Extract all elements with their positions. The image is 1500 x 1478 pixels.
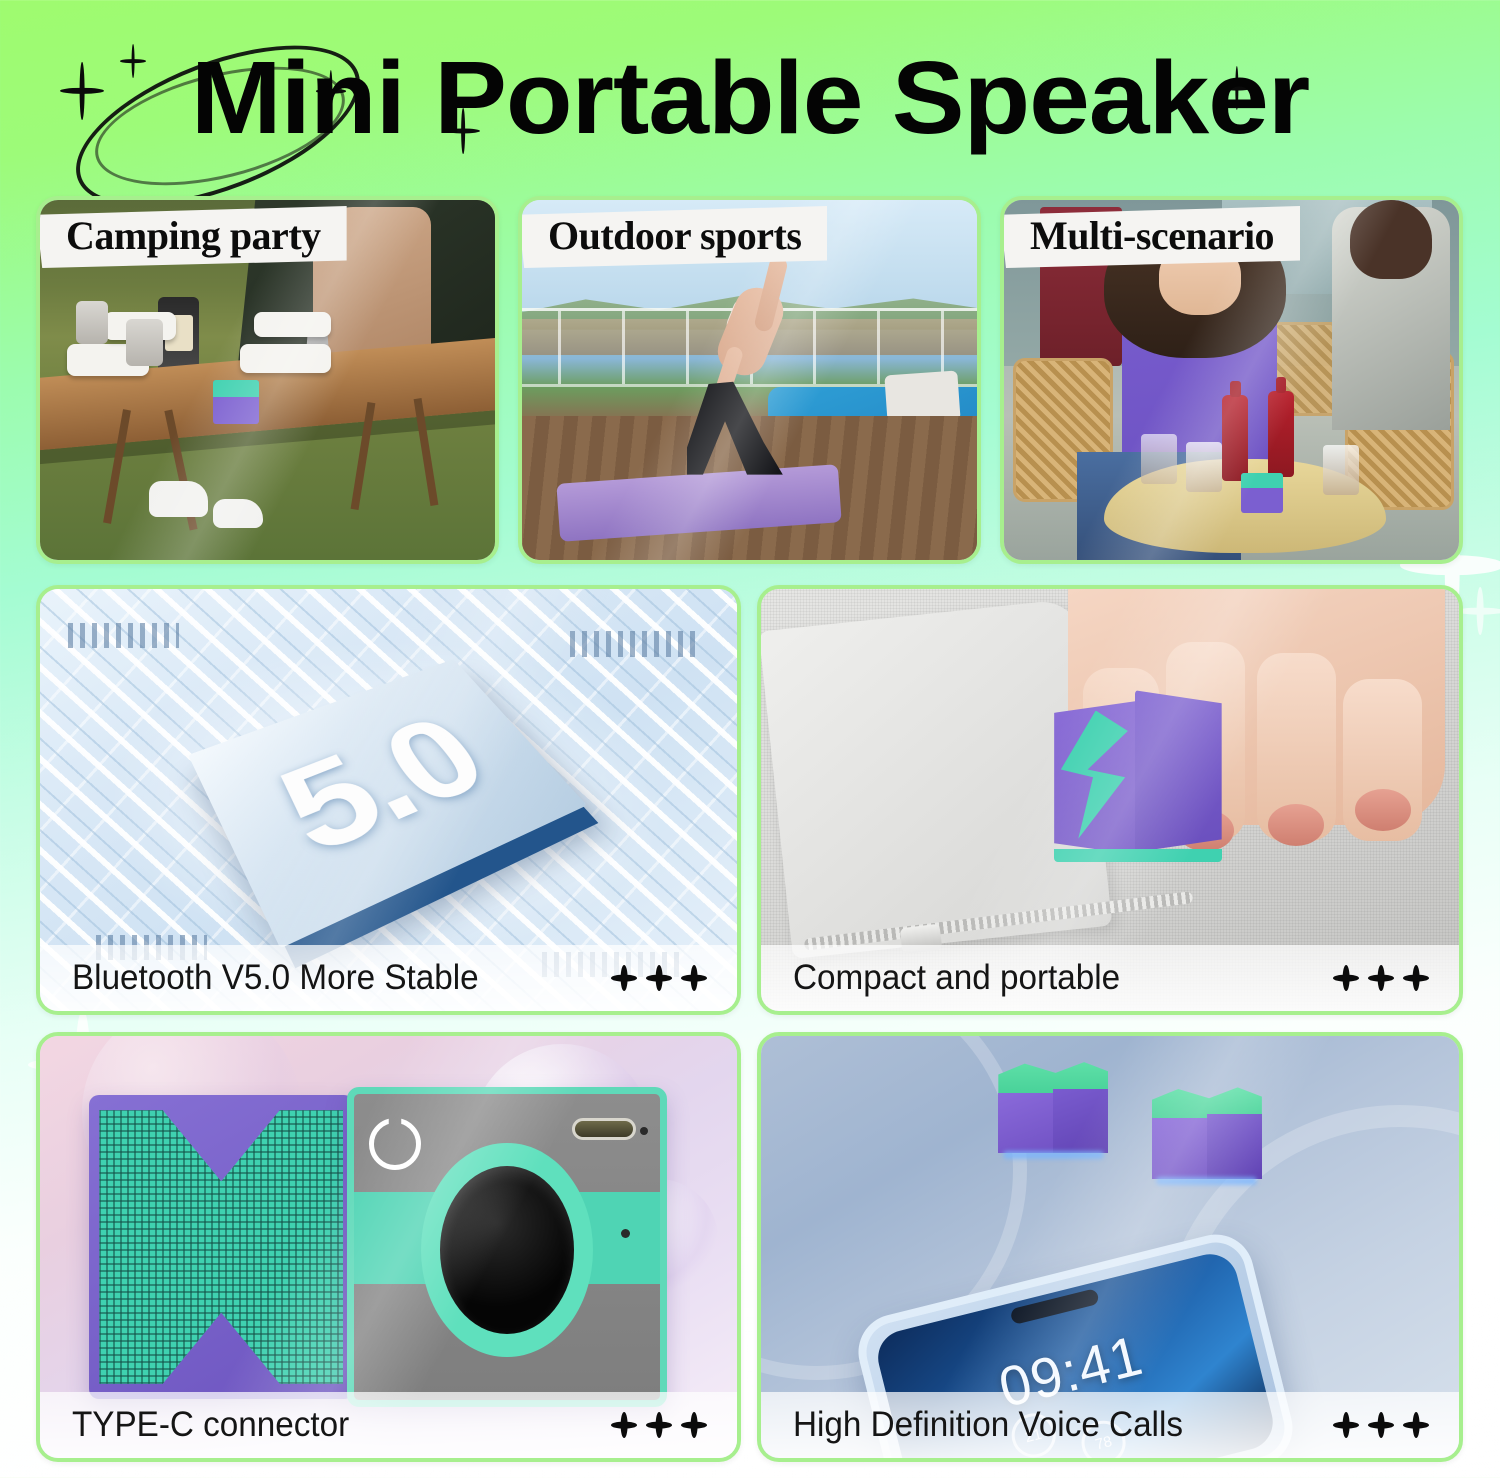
sparkle-icon xyxy=(1333,1412,1359,1438)
rating-stars xyxy=(1333,1412,1429,1438)
scene-label-camping: Camping party xyxy=(36,206,347,268)
usb-c-port-icon xyxy=(572,1118,636,1140)
scene-label-outdoor-sports: Outdoor sports xyxy=(518,206,827,268)
speaker-control-panel xyxy=(347,1087,668,1408)
rating-stars xyxy=(1333,965,1429,991)
feature-caption-text: TYPE-C connector xyxy=(72,1405,349,1445)
product-speaker-cube xyxy=(1241,473,1283,513)
sparkle-icon xyxy=(1333,965,1359,991)
page-header: Mini Portable Speaker xyxy=(0,28,1500,173)
feature-caption-typec: TYPE-C connector xyxy=(40,1392,737,1458)
sparkle-icon xyxy=(646,965,672,991)
power-icon xyxy=(369,1118,421,1170)
microphone-hole-icon xyxy=(621,1229,630,1238)
phone-notch xyxy=(1009,1288,1099,1325)
feature-caption-bluetooth: Bluetooth V5.0 More Stable xyxy=(40,945,737,1011)
rating-stars xyxy=(611,965,707,991)
feature-card-typec[interactable]: TYPE-C connector xyxy=(36,1032,741,1462)
sparkle-icon xyxy=(1368,965,1394,991)
feature-card-bluetooth[interactable]: 5.0 Bluetooth V5.0 More Stable xyxy=(36,585,741,1015)
page-title: Mini Portable Speaker xyxy=(0,28,1500,168)
scene-card-camping[interactable]: Camping party xyxy=(36,196,499,564)
feature-caption-text: High Definition Voice Calls xyxy=(793,1405,1183,1445)
speaker-driver xyxy=(421,1143,593,1358)
rating-stars xyxy=(611,1412,707,1438)
sparkle-icon xyxy=(1403,1412,1429,1438)
scene-card-multi-scenario[interactable]: Multi-scenario xyxy=(1000,196,1463,564)
scene-label-multi-scenario: Multi-scenario xyxy=(1000,206,1300,268)
product-speaker-cube xyxy=(213,380,259,424)
sparkle-icon xyxy=(646,1412,672,1438)
feature-caption-text: Bluetooth V5.0 More Stable xyxy=(72,958,479,998)
product-speaker-in-hand xyxy=(1054,690,1222,859)
sparkle-icon xyxy=(1403,965,1429,991)
feature-card-compact[interactable]: Compact and portable xyxy=(757,585,1463,1015)
sparkle-icon xyxy=(681,965,707,991)
feature-caption-compact: Compact and portable xyxy=(761,945,1459,1011)
sparkle-icon xyxy=(681,1412,707,1438)
sparkle-icon xyxy=(611,1412,637,1438)
sparkle-icon xyxy=(1368,1412,1394,1438)
scene-card-outdoor-sports[interactable]: Outdoor sports xyxy=(518,196,981,564)
product-speaker-cube xyxy=(1152,1087,1262,1179)
microphone-hole-icon xyxy=(640,1127,648,1135)
feature-caption-voice-calls: High Definition Voice Calls xyxy=(761,1392,1459,1458)
feature-card-voice-calls[interactable]: 09:41 21 78 High Definition Voice Calls xyxy=(757,1032,1463,1462)
product-speaker-cube xyxy=(998,1061,1108,1153)
speaker-grille-panel xyxy=(89,1095,354,1399)
sparkle-icon xyxy=(611,965,637,991)
feature-caption-text: Compact and portable xyxy=(793,958,1120,998)
